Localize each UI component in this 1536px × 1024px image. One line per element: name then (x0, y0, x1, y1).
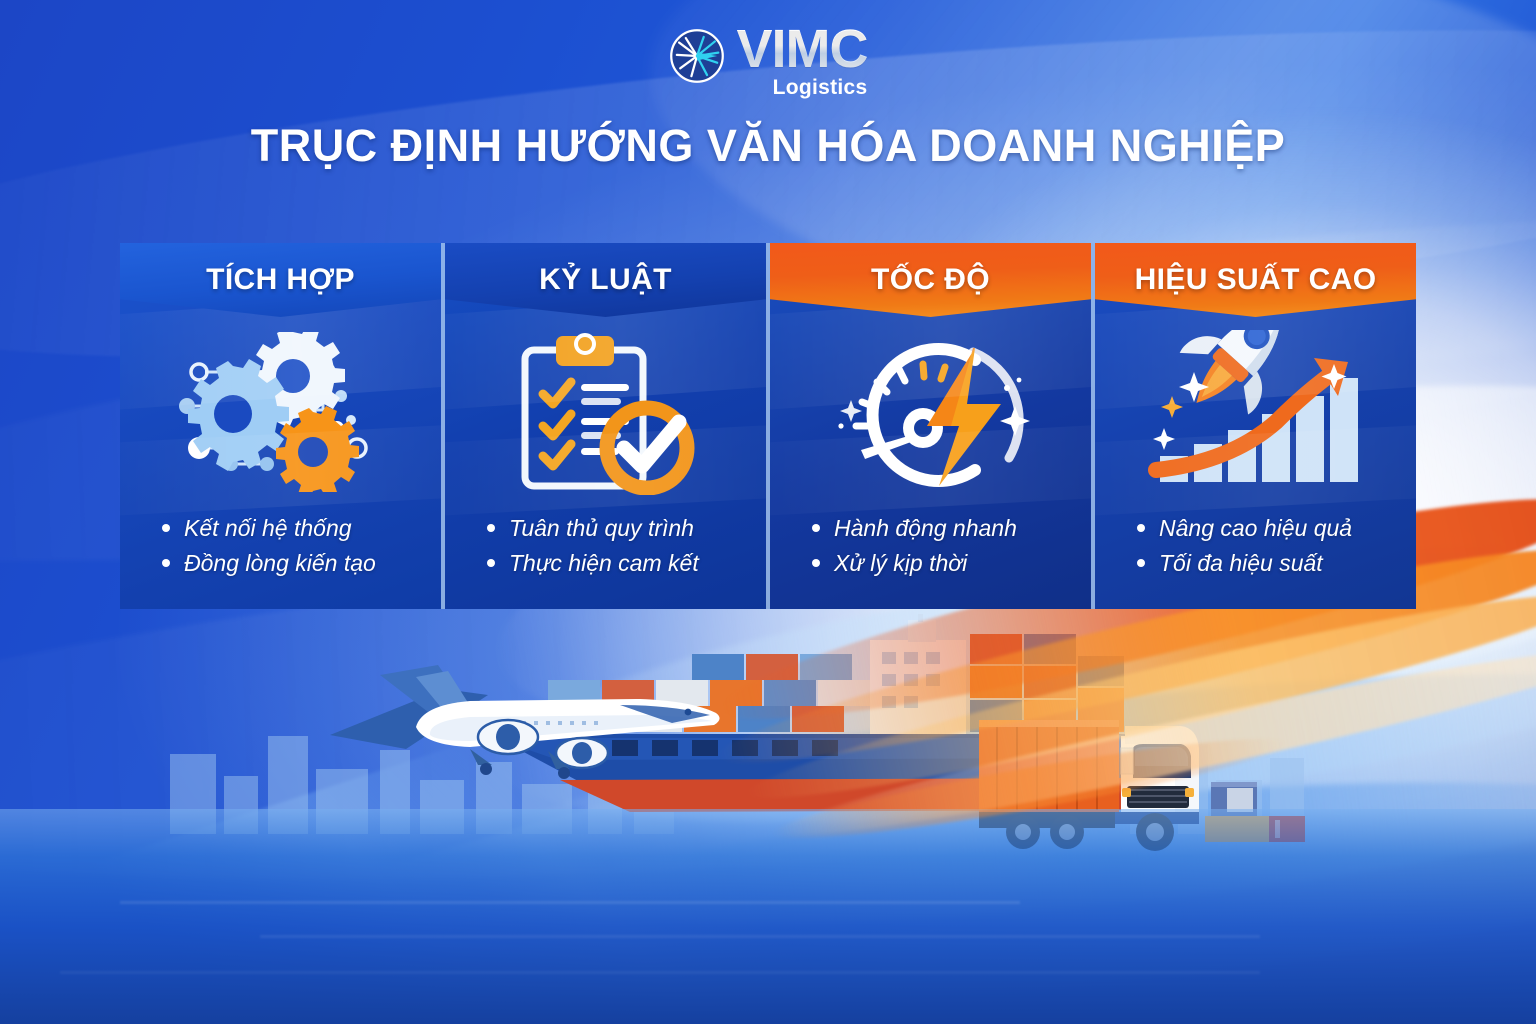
logo-tagline: Logistics (773, 77, 868, 98)
card-ky-luat[interactable]: KỶ LUẬT (441, 243, 766, 609)
card-toc-do[interactable]: TỐC ĐỘ (766, 243, 1091, 609)
rocket-growth-chart-icon (1138, 330, 1373, 495)
card-tich-hop[interactable]: TÍCH HỢP (120, 243, 441, 609)
list-item: Nâng cao hiệu quả (1133, 511, 1416, 546)
list-item: Kết nối hệ thống (158, 511, 441, 546)
sea-streak-3 (60, 971, 1260, 974)
page-title: TRỤC ĐỊNH HƯỚNG VĂN HÓA DOANH NGHIỆP (0, 120, 1536, 172)
card-header-hieu-suat-cao: HIỆU SUẤT CAO (1095, 243, 1416, 317)
list-item: Đồng lòng kiến tạo (158, 546, 441, 581)
logistics-illustration (0, 594, 1536, 1024)
card-header-tich-hop: TÍCH HỢP (120, 243, 441, 317)
sea-streak-1 (120, 901, 1020, 904)
list-item: Tối đa hiệu suất (1133, 546, 1416, 581)
sea-streak-2 (260, 935, 1260, 938)
card-title: HIỆU SUẤT CAO (1135, 263, 1377, 297)
card-bullet-list: Hành động nhanh Xử lý kịp thời (770, 507, 1091, 609)
clipboard-checklist-icon (511, 330, 701, 495)
brand-logo[interactable]: VIMC Logistics (0, 18, 1536, 102)
card-title: KỶ LUẬT (539, 263, 672, 297)
vimc-circle-burst-icon (669, 28, 725, 84)
card-icon-wrap (445, 317, 766, 507)
infographic-canvas: VIMC Logistics TRỤC ĐỊNH HƯỚNG VĂN HÓA D… (0, 0, 1536, 1024)
list-item: Xử lý kịp thời (808, 546, 1091, 581)
card-bullet-list: Tuân thủ quy trình Thực hiện cam kết (445, 507, 766, 609)
airplane-icon (320, 649, 740, 809)
sea-surface (0, 809, 1536, 1024)
card-bullet-list: Nâng cao hiệu quả Tối đa hiệu suất (1095, 507, 1416, 609)
card-icon-wrap (120, 317, 441, 507)
card-header-toc-do: TỐC ĐỘ (770, 243, 1091, 317)
list-item: Thực hiện cam kết (483, 546, 766, 581)
card-icon-wrap (1095, 317, 1416, 507)
list-item: Tuân thủ quy trình (483, 511, 766, 546)
card-title: TỐC ĐỘ (871, 263, 990, 297)
card-title: TÍCH HỢP (206, 263, 355, 297)
card-icon-wrap (770, 317, 1091, 507)
list-item: Hành động nhanh (808, 511, 1091, 546)
logo-wordmark: VIMC (737, 22, 868, 76)
value-cards-panel: TÍCH HỢP (120, 243, 1416, 609)
speedometer-lightning-icon (823, 330, 1038, 495)
card-hieu-suat-cao[interactable]: HIỆU SUẤT CAO (1091, 243, 1416, 609)
card-header-ky-luat: KỶ LUẬT (445, 243, 766, 317)
card-bullet-list: Kết nối hệ thống Đồng lòng kiến tạo (120, 507, 441, 609)
gears-network-icon (173, 332, 388, 492)
